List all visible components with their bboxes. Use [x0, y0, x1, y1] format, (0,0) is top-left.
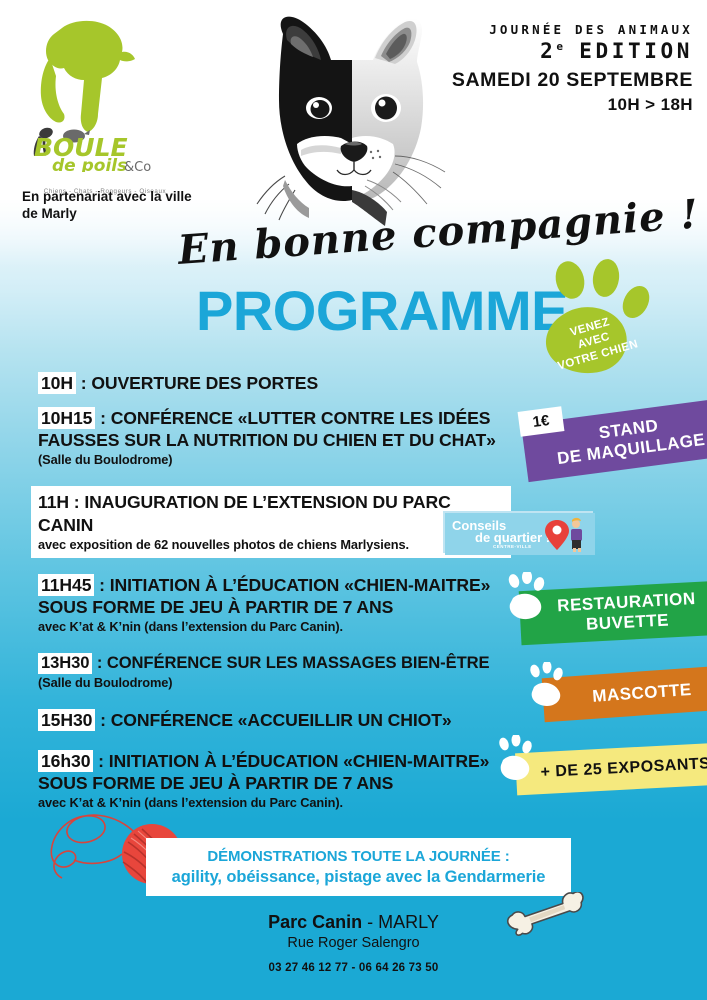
bring-your-dog-badge: VENEZ AVEC VOTRE CHIEN	[530, 258, 655, 378]
entry-separator: :	[92, 653, 106, 672]
demonstrations-line1: DÉMONSTRATIONS TOUTE LA JOURNÉE :	[207, 848, 509, 865]
programme-entry: 10H : OUVERTURE DES PORTES	[38, 372, 508, 394]
programme-entry: 13H30 : CONFÉRENCE SUR LES MASSAGES BIEN…	[38, 653, 508, 690]
entry-main-line: 11H45 : INITIATION À L’ÉDUCATION «CHIEN-…	[38, 574, 508, 596]
entry-title: INITIATION À L’ÉDUCATION «CHIEN-MAITRE»	[109, 751, 490, 771]
demonstrations-box: DÉMONSTRATIONS TOUTE LA JOURNÉE : agilit…	[146, 838, 571, 896]
page-title: PROGRAMME	[196, 278, 568, 343]
programme-entry: 16h30 : INITIATION À L’ÉDUCATION «CHIEN-…	[38, 750, 508, 810]
entry-note: (Salle du Boulodrome)	[38, 452, 508, 467]
programme-entry: 11H : INAUGURATION DE L’EXTENSION DU PAR…	[31, 486, 511, 557]
event-hours: 10H > 18H	[452, 95, 693, 115]
entry-title-line2: FAUSSES SUR LA NUTRITION DU CHIEN ET DU …	[38, 429, 508, 451]
dog-silhouette-icon	[32, 18, 142, 133]
entry-note: avec K’at & K’nin (dans l’extension du P…	[38, 619, 508, 634]
entry-title: CONFÉRENCE SUR LES MASSAGES BIEN-ÊTRE	[107, 653, 490, 672]
entry-separator: :	[95, 408, 110, 428]
entry-main-line: 13H30 : CONFÉRENCE SUR LES MASSAGES BIEN…	[38, 653, 508, 674]
header-line-edition: 2e EDITION	[452, 39, 693, 63]
programme-list: 10H : OUVERTURE DES PORTES 10H15 : CONFÉ…	[38, 372, 508, 823]
entry-title: INITIATION À L’ÉDUCATION «CHIEN-MAITRE»	[110, 575, 491, 595]
partnership-text: En partenariat avec la ville de Marly	[22, 188, 192, 223]
conseils-de-quartier-badge: Conseils de quartier ! CENTRE-VILLE	[443, 511, 593, 553]
demonstrations-line2: agility, obéissance, pistage avec la Gen…	[172, 868, 546, 887]
entry-time: 10H15	[38, 407, 95, 429]
programme-entry: 15H30 : CONFÉRENCE «ACCUEILLIR UN CHIOT»	[38, 709, 508, 731]
dog-cat-split-face-illustration	[245, 4, 460, 229]
mascotte-label: MASCOTTE	[592, 680, 693, 707]
programme-entry: 11H45 : INITIATION À L’ÉDUCATION «CHIEN-…	[38, 574, 508, 634]
venue-line: Parc Canin - MARLY	[0, 912, 707, 933]
entry-main-line: 11H : INAUGURATION DE L’EXTENSION DU PAR…	[38, 491, 504, 535]
entry-main-line: 16h30 : INITIATION À L’ÉDUCATION «CHIEN-…	[38, 750, 508, 772]
exposants-label: + DE 25 EXPOSANTS	[540, 755, 707, 783]
conseils-line3: CENTRE-VILLE	[493, 544, 532, 549]
entry-separator: :	[69, 492, 84, 512]
entry-time: 11H45	[38, 574, 94, 596]
entry-time: 16h30	[38, 750, 93, 772]
edition-word: EDITION	[579, 39, 693, 63]
entry-time: 11H	[38, 492, 69, 512]
conseils-inner: Conseils de quartier ! CENTRE-VILLE	[445, 513, 595, 555]
paw-print-icon	[505, 572, 549, 620]
entry-separator: :	[76, 373, 91, 393]
conseils-line2: de quartier !	[475, 530, 550, 545]
paw-print-icon	[495, 735, 537, 781]
entry-title: CONFÉRENCE «ACCUEILLIR UN CHIOT»	[111, 710, 452, 730]
edition-number: 2	[540, 39, 556, 63]
svg-text:&Co: &Co	[124, 160, 151, 172]
contact-phones: 03 27 46 12 77 - 06 64 26 73 50	[0, 962, 707, 974]
badge-exposants: + DE 25 EXPOSANTS	[515, 743, 707, 796]
header-line-journee: JOURNÉE DES ANIMAUX	[452, 22, 693, 37]
footer: Parc Canin - MARLY Rue Roger Salengro 03…	[0, 912, 707, 974]
event-header: JOURNÉE DES ANIMAUX 2e EDITION SAMEDI 20…	[452, 22, 693, 115]
event-poster: BOULE de poils &Co Chiens - Chats - Rong…	[0, 0, 707, 1000]
entry-title: INAUGURATION DE L’EXTENSION DU PARC CANI…	[38, 492, 451, 534]
entry-note: (Salle du Boulodrome)	[38, 675, 508, 690]
entry-separator: :	[93, 751, 108, 771]
entry-title-line2: SOUS FORME DE JEU À PARTIR DE 7 ANS	[38, 596, 508, 618]
entry-time: 13H30	[38, 653, 92, 674]
brand-logo: BOULE de poils &Co Chiens - Chats - Rong…	[22, 18, 182, 198]
edition-superscript: e	[556, 40, 563, 53]
entry-main-line: 10H : OUVERTURE DES PORTES	[38, 372, 508, 394]
svg-text:de poils: de poils	[52, 156, 127, 172]
entry-time: 15H30	[38, 709, 95, 731]
programme-entry: 10H15 : CONFÉRENCE «LUTTER CONTRE LES ID…	[38, 407, 508, 467]
entry-separator: :	[94, 575, 109, 595]
brand-wordmark: BOULE de poils &Co	[26, 126, 176, 172]
event-date: SAMEDI 20 SEPTEMBRE	[452, 69, 693, 92]
venue-city: MARLY	[378, 912, 439, 932]
paw-print-icon	[527, 662, 567, 707]
entry-title-line2: SOUS FORME DE JEU À PARTIR DE 7 ANS	[38, 772, 508, 794]
entry-title: CONFÉRENCE «LUTTER CONTRE LES IDÉES	[111, 408, 491, 428]
entry-title: OUVERTURE DES PORTES	[91, 373, 318, 393]
entry-main-line: 10H15 : CONFÉRENCE «LUTTER CONTRE LES ID…	[38, 407, 508, 429]
map-pin-and-person-icon	[543, 517, 591, 553]
venue-separator: -	[362, 912, 378, 932]
venue-name: Parc Canin	[268, 912, 362, 932]
entry-note: avec exposition de 62 nouvelles photos d…	[38, 537, 504, 552]
entry-separator: :	[95, 710, 110, 730]
venue-street: Rue Roger Salengro	[0, 935, 707, 951]
entry-time: 10H	[38, 372, 76, 394]
entry-main-line: 15H30 : CONFÉRENCE «ACCUEILLIR UN CHIOT»	[38, 709, 508, 731]
